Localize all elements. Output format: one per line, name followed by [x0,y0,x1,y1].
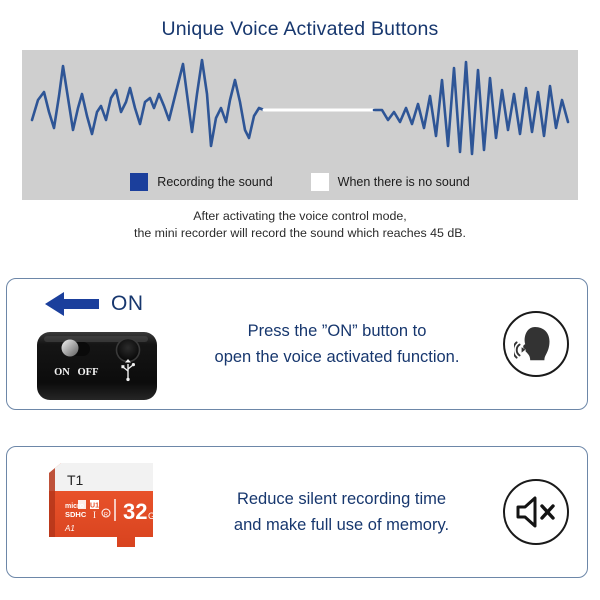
card-text-line-2: and make full use of memory. [189,512,494,538]
voice-activation-text: Press the ”ON” button to open the voice … [182,318,492,370]
panel-memory-usage: T1 micro SDHC U1 I R 32 GB A1 Reduce sil… [6,446,588,578]
page-title: Unique Voice Activated Buttons [0,18,600,41]
on-label: ON [111,292,144,316]
speaking-head-icon [503,311,569,377]
on-indicator-group: ON [45,291,144,317]
waveform-graphic [22,50,578,162]
waveform-caption: After activating the voice control mode,… [0,208,600,242]
card-name-text: T1 [67,472,84,488]
logo-sdhc-text: SDHC [65,510,87,519]
legend-label-recording: Recording the sound [157,175,272,189]
card-text-line-1: Reduce silent recording time [189,486,494,512]
recorder-device-image: ON OFF [35,330,159,402]
speed-u-text: U1 [90,503,99,510]
switch-knob[interactable] [62,340,79,357]
switch-on-text: ON [54,367,70,378]
switch-off-text: OFF [78,367,99,378]
waveform-left-path [32,60,264,146]
waveform-legend: Recording the sound When there is no sou… [22,173,578,191]
waveform-section: Unique Voice Activated Buttons Recording… [0,0,600,262]
legend-swatch-silence [311,173,329,191]
arrow-left-icon [45,291,99,317]
card-label-strip [49,463,153,491]
microsd-card-image: T1 micro SDHC U1 I R 32 GB A1 [43,459,165,567]
card-app-class: A1 [64,524,75,533]
usb-port [117,339,140,362]
speaking-head-glyph [514,324,558,364]
memory-usage-text: Reduce silent recording time and make fu… [189,486,494,538]
legend-swatch-recording [130,173,148,191]
caption-line-1: After activating the voice control mode, [0,208,600,225]
registered-mark: R [104,512,108,518]
caption-line-2: the mini recorder will record the sound … [0,225,600,242]
waveform-chart: Recording the sound When there is no sou… [22,50,578,200]
waveform-right-path [374,62,568,154]
speaker-mute-icon [503,479,569,545]
speed-class-text: I [93,510,96,520]
card-left-stripe [49,468,55,537]
card-capacity-number: 32 [123,499,147,524]
legend-label-silence: When there is no sound [338,175,470,189]
legend-entry-silence: When there is no sound [311,173,470,191]
on-text-line-1: Press the ”ON” button to [182,318,492,344]
legend-entry-recording: Recording the sound [130,173,272,191]
device-body [37,332,157,400]
speaker-mute-glyph [515,494,557,530]
panel-voice-activation: ON ON OFF [6,278,588,410]
on-text-line-2: open the voice activated function. [182,344,492,370]
mute-cross [542,506,553,518]
card-capacity-unit: GB [148,511,161,521]
